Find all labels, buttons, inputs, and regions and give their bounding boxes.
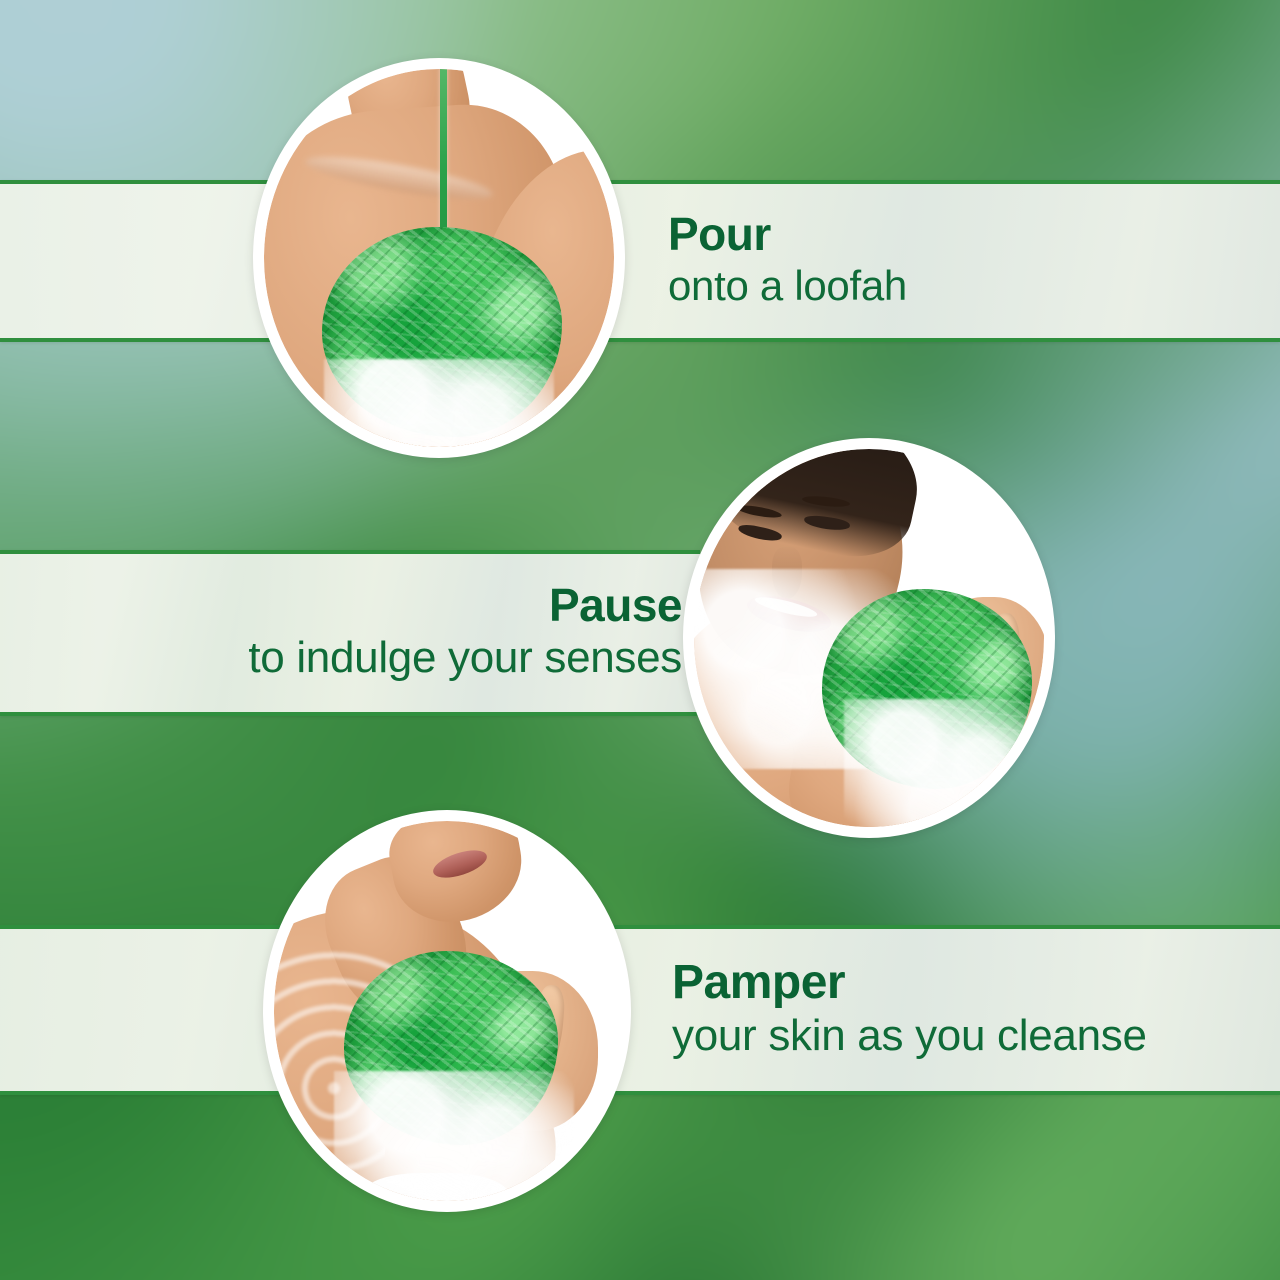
foam-shape bbox=[334, 1071, 574, 1201]
foam-shape bbox=[324, 359, 554, 447]
step-headline-pause: Pause bbox=[549, 582, 682, 630]
photo-scene-pour bbox=[264, 69, 614, 447]
step-subline-pause: to indulge your senses bbox=[248, 632, 682, 684]
step-headline-pamper: Pamper bbox=[672, 958, 845, 1008]
step-photo-pour bbox=[253, 58, 625, 458]
step-photo-pamper bbox=[263, 810, 631, 1212]
step-subline-pour: onto a loofah bbox=[668, 261, 907, 311]
photo-scene-pause bbox=[694, 449, 1044, 827]
foam-shape bbox=[844, 699, 1044, 827]
step-banner-pamper: Pamper your skin as you cleanse bbox=[0, 925, 1280, 1095]
step-headline-pour: Pour bbox=[668, 211, 771, 259]
step-photo-pause bbox=[683, 438, 1055, 838]
step-subline-pamper: your skin as you cleanse bbox=[672, 1010, 1147, 1062]
step-banner-pour: Pour onto a loofah bbox=[0, 180, 1280, 342]
step-banner-pause: Pause to indulge your senses bbox=[0, 550, 700, 716]
photo-scene-pamper bbox=[274, 821, 620, 1201]
